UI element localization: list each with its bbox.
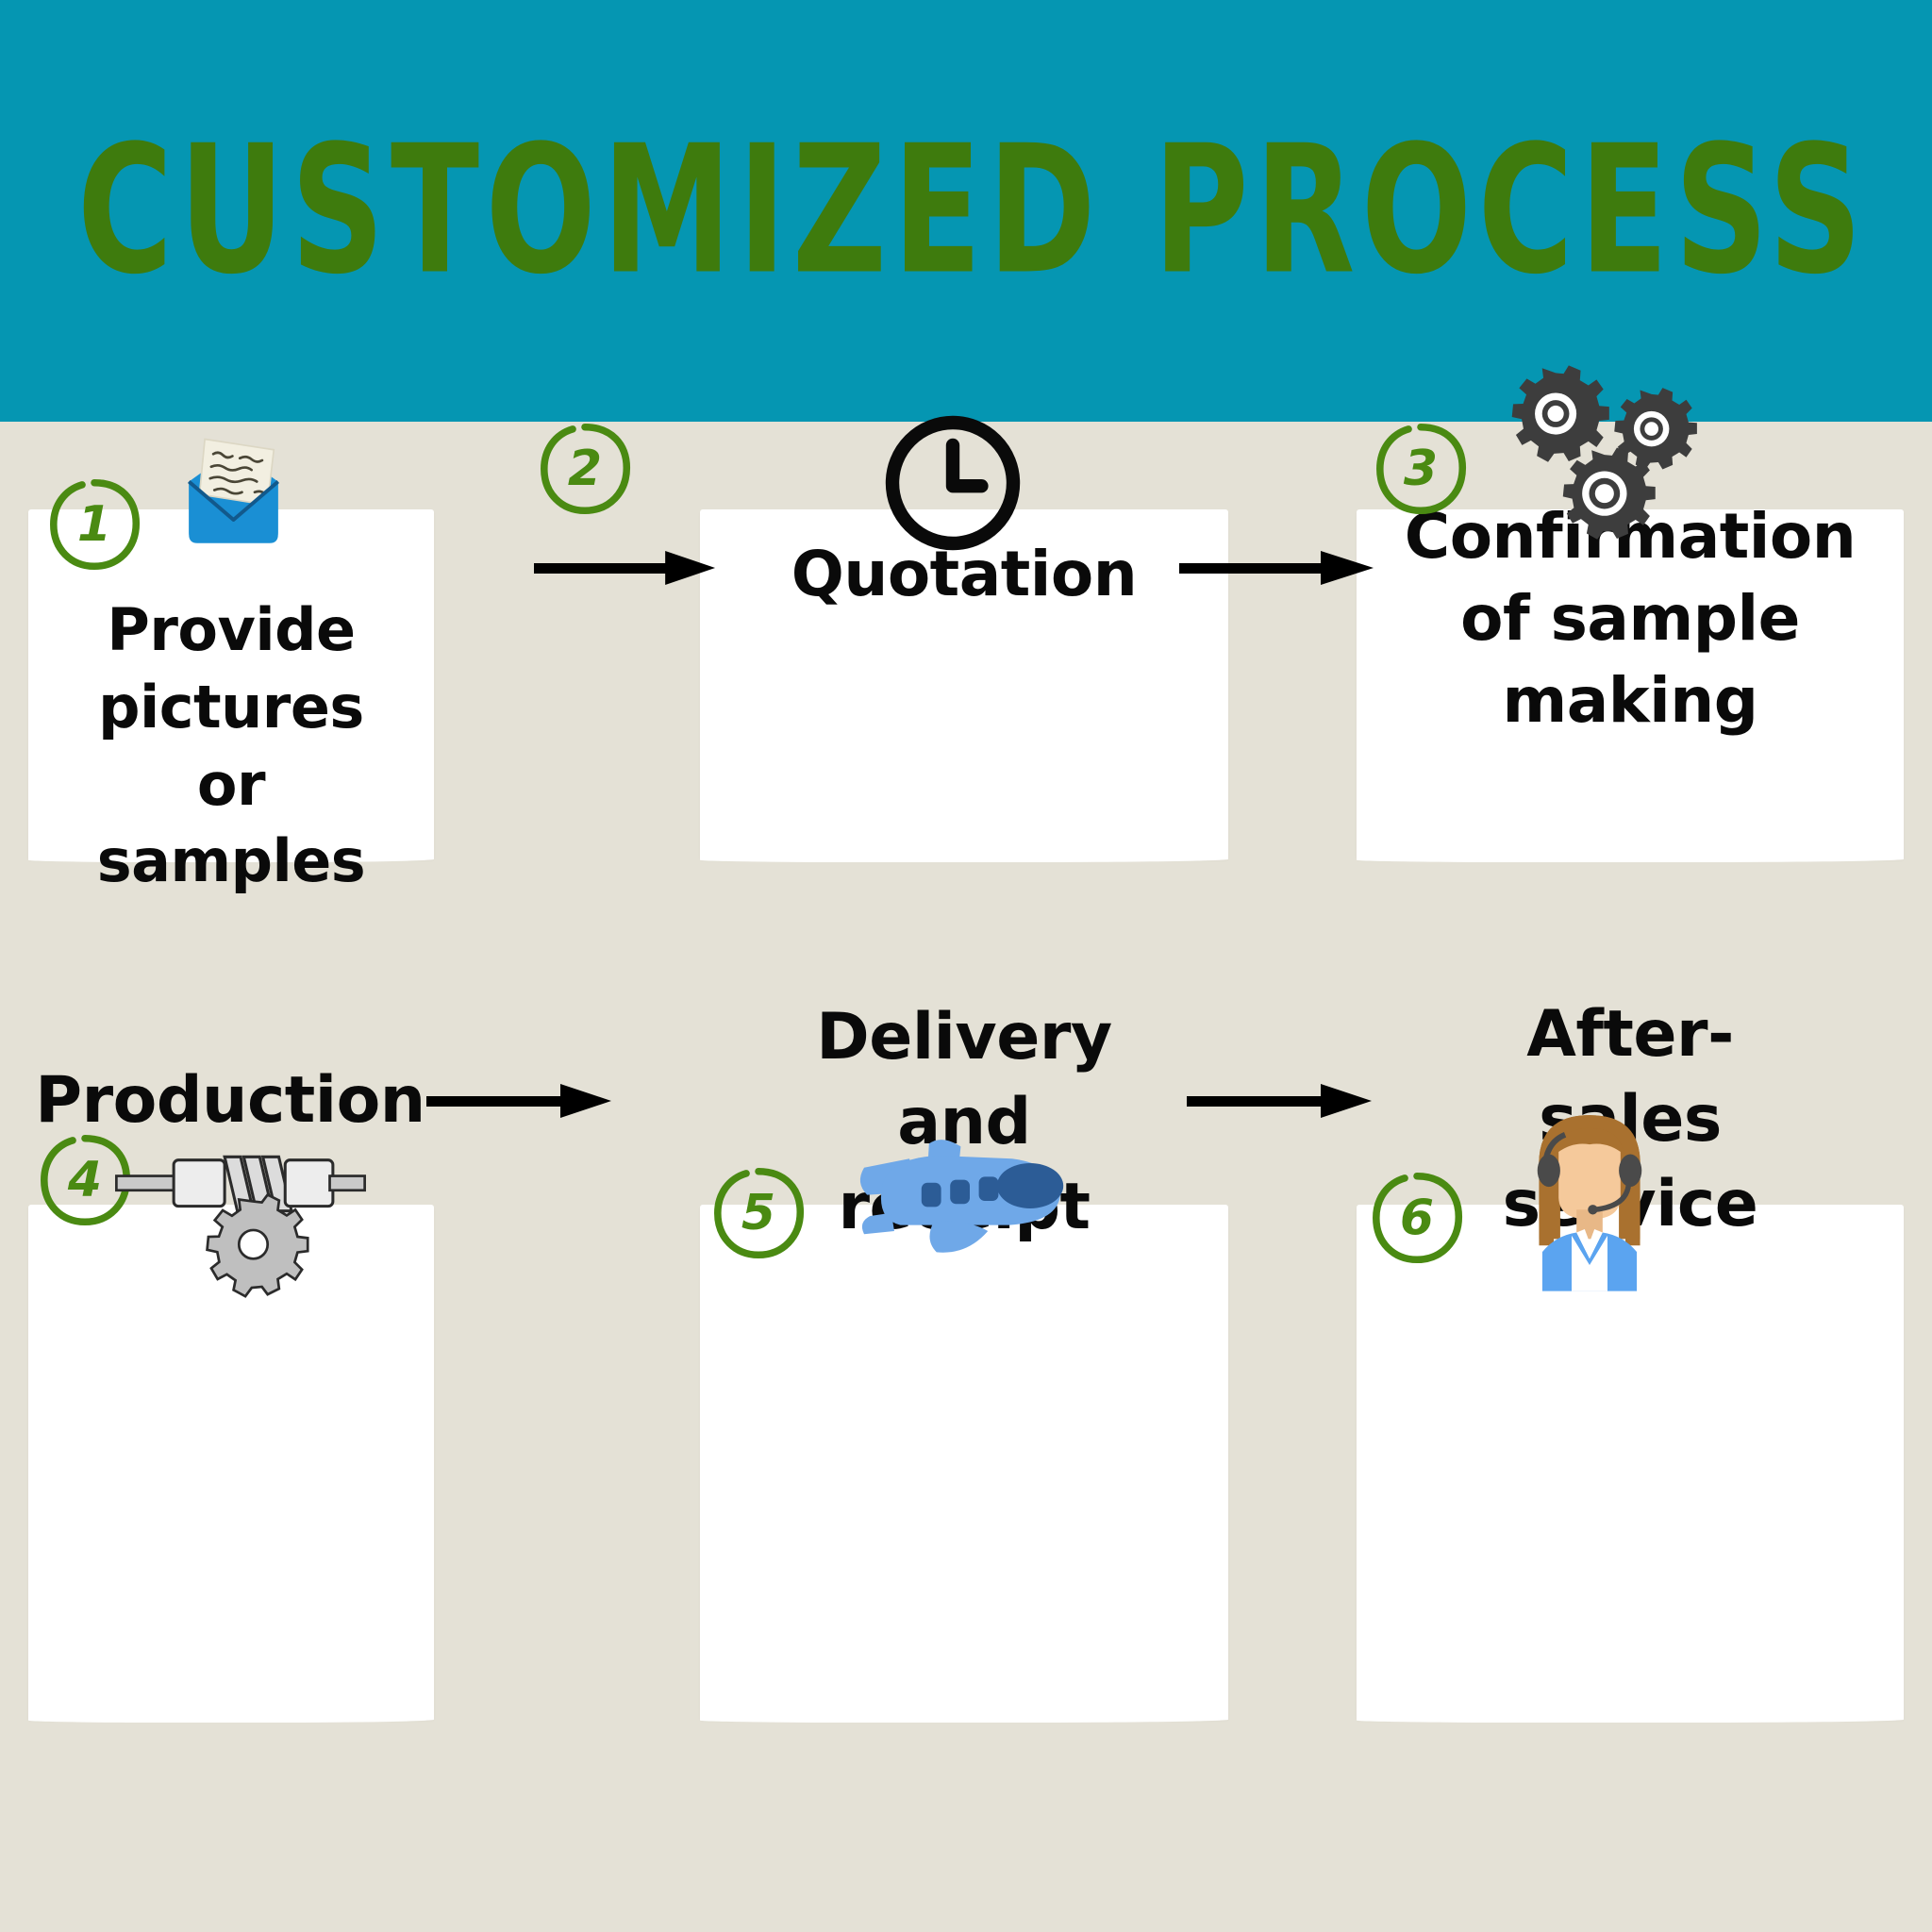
- process-flow: 1 Provide pictures or samples 2 Quotatio…: [0, 422, 1932, 1932]
- arrow-step1-to-step2: [534, 546, 719, 590]
- step-label-3-line-3: making: [1360, 659, 1900, 741]
- step-number-badge-2: 2: [534, 418, 636, 520]
- step-number-1: 1: [43, 474, 145, 575]
- customer-service-agent-icon: [1500, 1094, 1679, 1292]
- step-label-1-line-3: samples: [57, 823, 406, 900]
- arrow-step2-to-step3: [1179, 546, 1377, 590]
- step-number-6: 6: [1366, 1167, 1468, 1269]
- worm-gear-shaft-icon: [113, 1120, 368, 1299]
- step-label-1: Provide pictures or samples: [57, 591, 406, 900]
- envelope-letter-icon: [170, 426, 297, 554]
- arrow-step4-to-step5: [426, 1079, 615, 1123]
- step-label-1-line-1: Provide: [57, 591, 406, 669]
- page-title: CUSTOMIZED PROCESS: [77, 123, 1855, 300]
- step-number-badge-6: 6: [1366, 1167, 1468, 1269]
- step-number-badge-1: 1: [43, 474, 145, 575]
- arrow-step5-to-step6: [1187, 1079, 1375, 1123]
- airplane-icon: [849, 1124, 1075, 1285]
- step-label-1-line-2: pictures or: [57, 669, 406, 824]
- step-label-5-line-1: Delivery: [709, 995, 1219, 1080]
- clock-icon: [877, 408, 1028, 558]
- gears-icon: [1492, 339, 1709, 556]
- step-label-6-line-1: After-: [1360, 992, 1900, 1077]
- step-number-badge-3: 3: [1370, 418, 1472, 520]
- step-number-3: 3: [1370, 418, 1472, 520]
- step-number-2: 2: [534, 418, 636, 520]
- step-number-5: 5: [708, 1162, 809, 1264]
- step-label-3-line-2: of sample: [1360, 577, 1900, 659]
- step-number-badge-5: 5: [708, 1162, 809, 1264]
